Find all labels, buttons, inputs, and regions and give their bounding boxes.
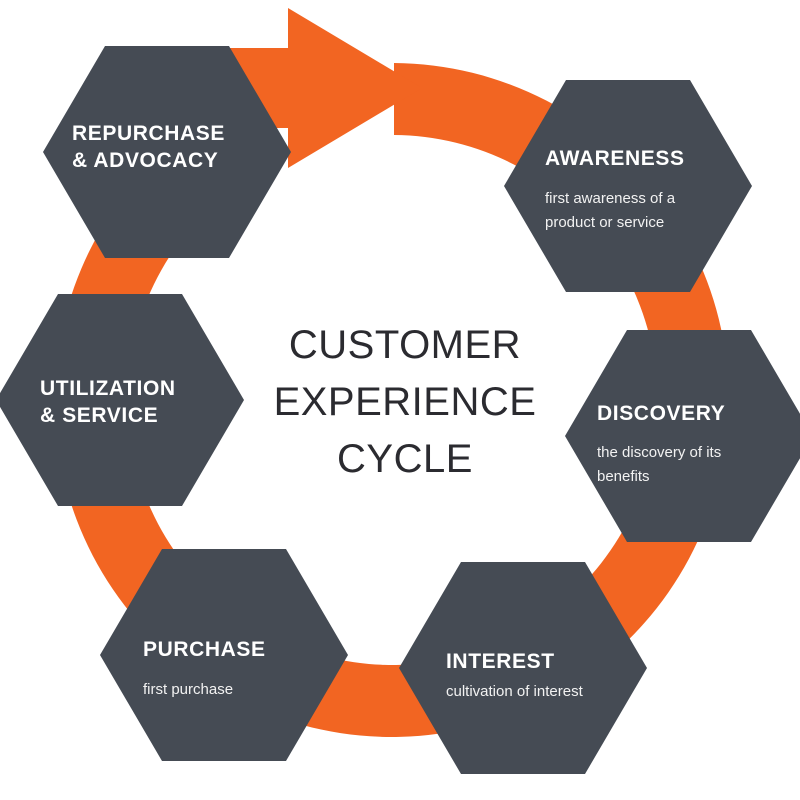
- stage-title-line-2: & SERVICE: [40, 404, 158, 427]
- stage-title: AWARENESS: [545, 147, 685, 170]
- center-title-line-2: EXPERIENCE: [274, 380, 537, 424]
- stage-node-discovery[interactable]: DISCOVERY the discovery of its benefits: [565, 330, 800, 542]
- stage-title-line-2: & ADVOCACY: [72, 149, 218, 172]
- stage-subtitle-line-2: product or service: [545, 214, 664, 231]
- stage-title-line-1: UTILIZATION: [40, 377, 176, 400]
- stage-subtitle-line-2: benefits: [597, 468, 650, 485]
- stage-subtitle-line-1: first purchase: [143, 681, 233, 698]
- customer-experience-cycle-diagram: REPURCHASE & ADVOCACY UTILIZATION & SERV…: [0, 0, 800, 800]
- stage-title: INTEREST: [446, 650, 555, 673]
- cycle-diagram-canvas: REPURCHASE & ADVOCACY UTILIZATION & SERV…: [0, 0, 800, 800]
- stage-title: PURCHASE: [143, 638, 266, 661]
- stage-subtitle-line-1: cultivation of interest: [446, 683, 584, 700]
- center-title-line-3: CYCLE: [337, 437, 473, 481]
- hexagon-shape: [565, 330, 800, 542]
- center-title-line-1: CUSTOMER: [289, 323, 521, 367]
- stage-title: DISCOVERY: [597, 402, 725, 425]
- stage-subtitle-line-1: first awareness of a: [545, 190, 676, 207]
- stage-subtitle-line-1: the discovery of its: [597, 444, 721, 461]
- stage-title-line-1: REPURCHASE: [72, 122, 225, 145]
- center-title: CUSTOMER EXPERIENCE CYCLE: [274, 323, 537, 481]
- stage-node-utilization-service[interactable]: UTILIZATION & SERVICE: [0, 294, 244, 506]
- hexagon-shape: [0, 294, 244, 506]
